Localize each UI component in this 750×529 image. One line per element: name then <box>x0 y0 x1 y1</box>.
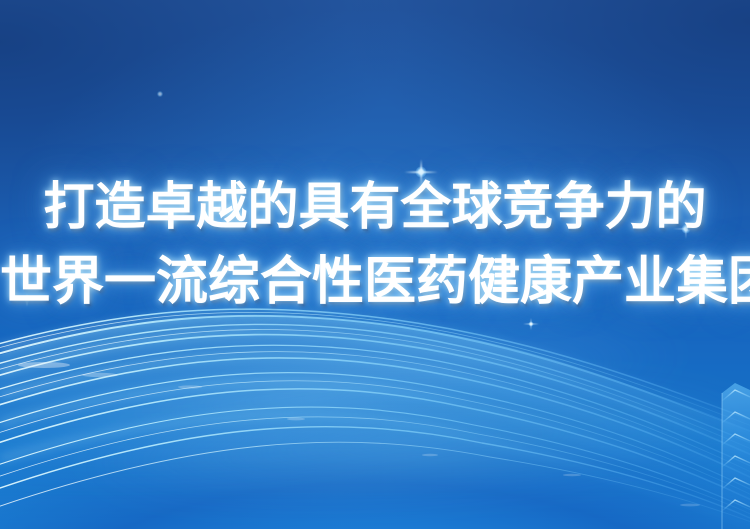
headline-line-1: 打造卓越的具有全球竞争力的 <box>0 171 750 245</box>
headline-line-2: 世界一流综合性医药健康产业集团 <box>0 245 750 319</box>
promo-banner: 打造卓越的具有全球竞争力的 世界一流综合性医药健康产业集团 <box>0 0 750 529</box>
glass-tower-icon <box>720 383 750 529</box>
headline-block: 打造卓越的具有全球竞争力的 世界一流综合性医药健康产业集团 <box>0 171 750 319</box>
